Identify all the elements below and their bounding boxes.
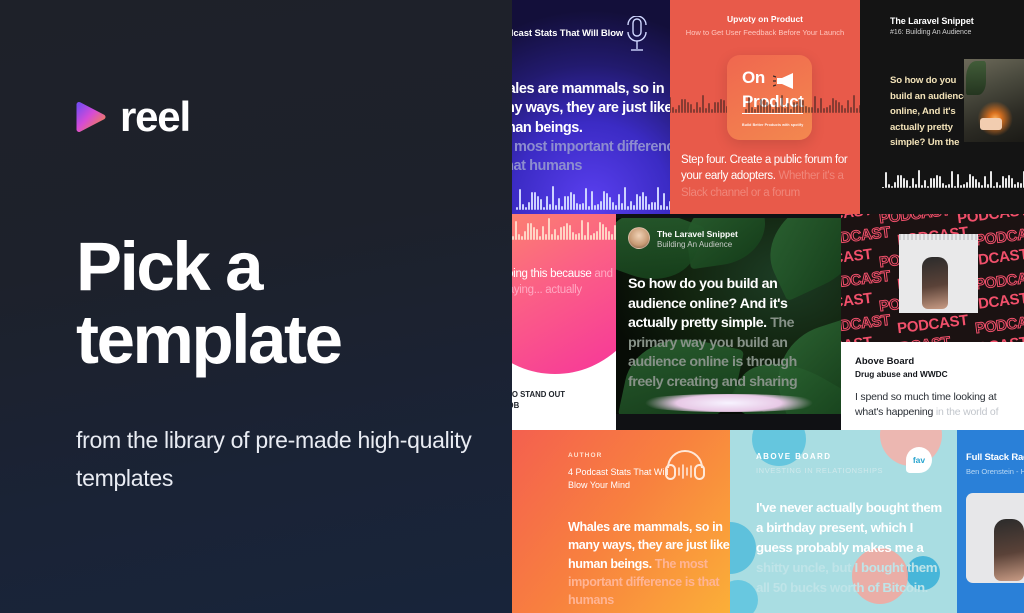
footer-line-1: HOW TO STAND OUT — [512, 389, 616, 401]
card-title: The Laravel Snippet — [657, 229, 738, 239]
side-strip-decoration — [950, 430, 957, 613]
hand-photo — [994, 519, 1024, 581]
template-card-purple-podcast[interactable]: 4 Podcast Stats That Will Blow Whales ar… — [512, 0, 670, 214]
pattern-word: PODCAST — [841, 290, 873, 316]
card-thumbnail — [966, 493, 1024, 583]
template-card-laravel-black[interactable]: The Laravel Snippet #16: Building An Aud… — [860, 0, 1024, 214]
card-subtitle: INVESTING IN RELATIONSHIPS — [756, 466, 883, 475]
leaf-decoration — [966, 61, 986, 95]
template-gallery: 4 Podcast Stats That Will Blow Whales ar… — [512, 0, 1024, 613]
card-caption: Whales are mammals, so in many ways, the… — [512, 80, 670, 176]
card-title: Above Board — [855, 356, 1012, 367]
template-card-above-board-white[interactable]: Above Board Drug abuse and WWDC I spend … — [841, 342, 1024, 430]
torn-edge-decoration — [899, 234, 978, 240]
caption-inactive: in the world of — [936, 406, 998, 418]
card-title: Upvoty on Product — [670, 14, 860, 24]
play-triangle-gradient-icon — [76, 101, 106, 133]
card-kicker: AUTHOR — [568, 452, 602, 459]
audio-waveform — [512, 214, 616, 240]
card-caption: Step four. Create a public forum for you… — [681, 152, 860, 201]
card-subtitle: How to Get User Feedback Before Your Lau… — [670, 28, 860, 37]
card-title: Full Stack Radio — [966, 452, 1024, 463]
caption-active: So how do you build an audience online? … — [628, 276, 788, 331]
template-card-orange-headphones[interactable]: AUTHOR 4 Podcast Stats That Will Blow Yo… — [512, 430, 730, 613]
pattern-word: PODCAST — [841, 334, 873, 342]
headphones-icon — [664, 446, 706, 480]
card-caption: we doing this because and me saying... a… — [512, 266, 616, 299]
fav-badge: fav — [906, 447, 932, 473]
pattern-word: PODCAST — [974, 312, 1024, 338]
audio-waveform — [882, 162, 1024, 188]
template-card-laravel-jungle[interactable]: The Laravel Snippet Building An Audience… — [616, 218, 841, 414]
card-title: The Laravel Snippet — [890, 16, 974, 26]
pattern-word: PODCAST — [974, 268, 1024, 294]
card-subtitle: Drug abuse and WWDC — [855, 369, 1012, 379]
pattern-word: PODCAST — [896, 312, 969, 338]
microphone-icon — [622, 16, 652, 58]
pattern-word: PODCAST — [956, 214, 1024, 227]
card-kicker: ABOVE BOARD — [756, 452, 831, 461]
footer-line-2: IN A JOB — [512, 400, 616, 412]
candle-decoration — [980, 118, 1002, 130]
card-subtitle: Ben Orenstein - How — [966, 467, 1024, 476]
template-card-podcast-pattern[interactable]: PODCASTPODCASTPODCASTPODCASTPODCASTPODCA… — [841, 214, 1024, 342]
brand-name: reel — [120, 96, 190, 138]
hand-photo — [922, 257, 948, 309]
template-card-pink-gradient[interactable]: we doing this because and me saying... a… — [512, 214, 616, 430]
card-caption: So how do you build an audience online, … — [890, 73, 974, 151]
circle-decoration — [730, 522, 756, 574]
caption-active: we doing this because — [512, 268, 592, 280]
pattern-word: PODCAST — [841, 246, 873, 272]
card-caption: Whales are mammals, so in many ways, the… — [568, 518, 730, 609]
caption-inactive: shitty uncle, but I bought them all 50 b… — [756, 560, 937, 595]
pattern-word: PODCAST — [974, 224, 1024, 250]
card-subtitle: #16: Building An Audience — [890, 29, 971, 36]
page-subtitle: from the library of pre-made high-qualit… — [76, 422, 476, 497]
card-caption: I spend so much time looking at what's h… — [855, 390, 1012, 420]
audio-waveform — [516, 184, 670, 210]
circle-decoration — [730, 580, 758, 613]
template-card-full-stack-radio[interactable]: Full Stack Radio Ben Orenstein - How — [950, 430, 1024, 613]
pattern-word: PODCAST — [878, 214, 951, 227]
artwork-footer: Build Better Products with spotify — [742, 123, 812, 127]
card-photo — [964, 59, 1024, 142]
card-caption: I've never actually bought them a birthd… — [756, 498, 946, 598]
light-flare — [632, 394, 826, 412]
card-footer: HOW TO STAND OUT IN A JOB — [512, 389, 616, 412]
caption-active: I've never actually bought them a birthd… — [756, 500, 942, 555]
card-subtitle: Building An Audience — [657, 240, 732, 249]
caption-inactive: The most important difference is that hu… — [512, 138, 670, 177]
page-title: Pick a template — [76, 230, 496, 376]
card-thumbnail — [899, 234, 978, 313]
card-caption: So how do you build an audience online? … — [628, 275, 824, 393]
brand-logo[interactable]: reel — [76, 96, 512, 138]
avatar — [628, 227, 650, 249]
template-card-above-board-teal[interactable]: ABOVE BOARD INVESTING IN RELATIONSHIPS f… — [730, 430, 950, 613]
audio-waveform-right — [745, 87, 860, 113]
hero-panel: reel Pick a template from the library of… — [0, 0, 512, 613]
template-picker-screen: reel Pick a template from the library of… — [0, 0, 1024, 613]
template-card-on-product[interactable]: Upvoty on Product How to Get User Feedba… — [670, 0, 860, 214]
caption-active: Whales are mammals, so in many ways, the… — [512, 80, 670, 138]
